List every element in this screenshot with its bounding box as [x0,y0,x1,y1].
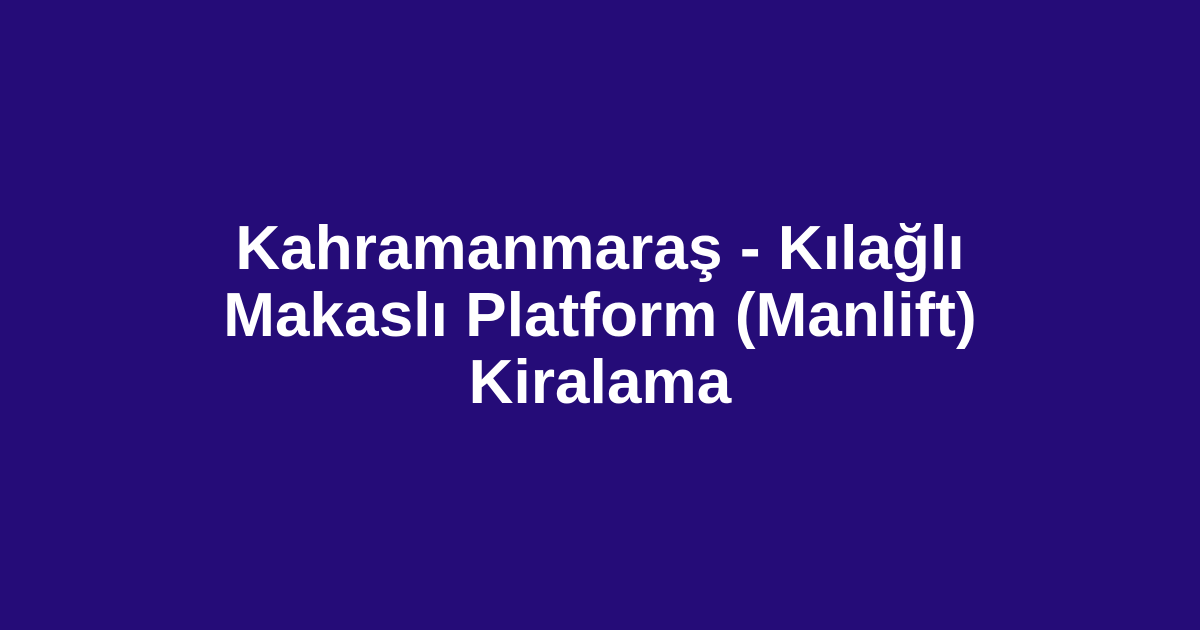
og-preview-card: Kahramanmaraş - Kılağlı Makaslı Platform… [0,0,1200,630]
page-title: Kahramanmaraş - Kılağlı Makaslı Platform… [170,215,1030,416]
card-content: Kahramanmaraş - Kılağlı Makaslı Platform… [150,215,1050,416]
